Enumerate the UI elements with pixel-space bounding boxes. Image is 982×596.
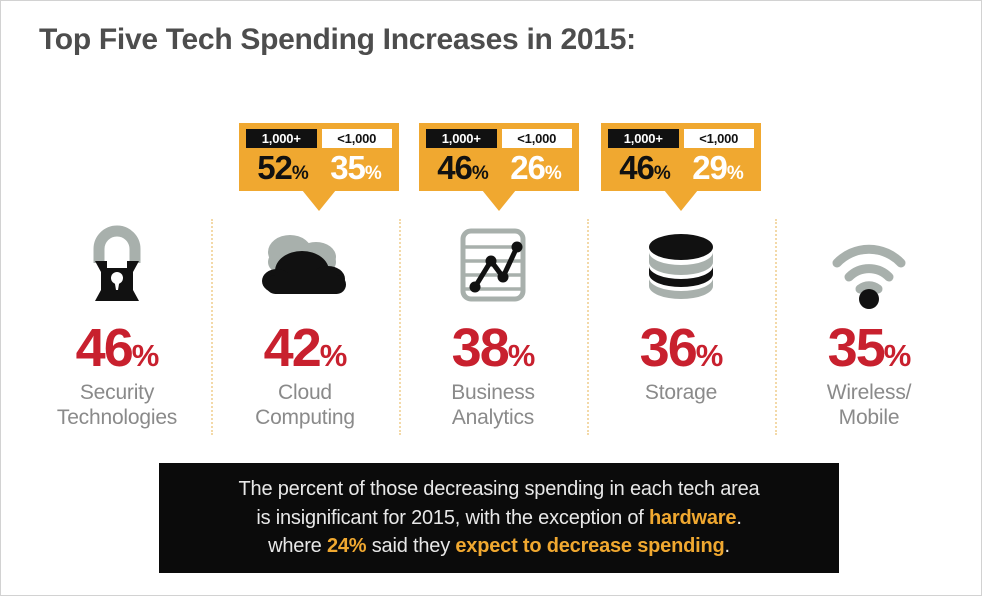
callout-value-large-percent: % (292, 163, 308, 184)
callout-business-analytics: 1,000+ <1,000 46% 26% (419, 123, 579, 191)
tag-under-1000: <1,000 (322, 129, 393, 148)
callout-value-small-percent: % (365, 163, 381, 184)
callout-value-small-number: 26 (510, 149, 545, 186)
callout-value-small-number: 29 (692, 149, 727, 186)
stat-number: 38 (452, 318, 508, 378)
callout-tags: 1,000+ <1,000 (601, 123, 761, 148)
stat-value: 35% (828, 321, 911, 375)
callout-value-large: 52% (246, 149, 319, 187)
callout-value-large-percent: % (654, 163, 670, 184)
callout-pointer-icon (482, 190, 516, 211)
stat-column-business-analytics: 38% Business Analytics (399, 219, 587, 435)
cloud-icon (250, 219, 360, 311)
footnote-line-3-text-b: said they (366, 535, 455, 557)
footnote-line-3-text-a: where (268, 535, 327, 557)
database-icon (635, 219, 727, 311)
stat-number: 46 (76, 318, 132, 378)
stat-label-line1: Storage (645, 381, 717, 406)
tag-1000-plus: 1,000+ (608, 129, 679, 148)
stat-label: Business Analytics (451, 381, 535, 431)
callout-value-small: 29% (681, 149, 754, 187)
callout-value-large: 46% (608, 149, 681, 187)
stat-percent: % (884, 338, 911, 373)
callout-values: 52% 35% (239, 148, 399, 187)
footnote-highlight-hardware: hardware (649, 507, 736, 529)
stat-columns: 46% Security Technologies (23, 219, 963, 435)
stat-value: 42% (264, 321, 347, 375)
stat-column-cloud-computing: 42% Cloud Computing (211, 219, 399, 435)
tag-1000-plus: 1,000+ (246, 129, 317, 148)
footnote-highlight-expect-decrease: expect to decrease spending (455, 535, 724, 557)
tag-under-1000: <1,000 (684, 129, 755, 148)
callout-value-large-number: 52 (257, 149, 292, 186)
stat-value: 46% (76, 321, 159, 375)
tag-1000-plus: 1,000+ (426, 129, 497, 148)
stat-label: Storage (645, 381, 717, 406)
callout-pointer-icon (302, 190, 336, 211)
stat-label-line1: Wireless/ (827, 381, 912, 406)
stat-label-line2: Analytics (451, 406, 535, 431)
stat-percent: % (320, 338, 347, 373)
callout-value-large-number: 46 (437, 149, 472, 186)
stat-percent: % (508, 338, 535, 373)
footnote-line-3-text-c: . (725, 535, 730, 557)
callout-value-small-number: 35 (330, 149, 365, 186)
callout-value-small-percent: % (727, 163, 743, 184)
stat-number: 35 (828, 318, 884, 378)
stat-column-security-technologies: 46% Security Technologies (23, 219, 211, 435)
callout-value-small: 26% (499, 149, 572, 187)
stat-label-line2: Computing (255, 406, 355, 431)
stat-value: 36% (640, 321, 723, 375)
footnote-line-2-text-a: is insignificant for 2015, with the exce… (256, 507, 649, 529)
stat-label-line1: Security (57, 381, 177, 406)
callout-cloud-computing: 1,000+ <1,000 52% 35% (239, 123, 399, 191)
stat-percent: % (696, 338, 723, 373)
footnote-line-2: is insignificant for 2015, with the exce… (256, 504, 741, 532)
lock-icon (69, 219, 165, 311)
footnote-highlight-24-percent: 24% (327, 535, 366, 557)
callout-value-large-percent: % (472, 163, 488, 184)
infographic-canvas: Top Five Tech Spending Increases in 2015… (0, 0, 982, 596)
stat-column-wireless-mobile: 35% Wireless/ Mobile (775, 219, 963, 435)
stat-label-line1: Business (451, 381, 535, 406)
footnote-line-1: The percent of those decreasing spending… (239, 475, 760, 503)
footnote-line-3: where 24% said they expect to decrease s… (268, 532, 730, 560)
stat-label: Security Technologies (57, 381, 177, 431)
stat-number: 36 (640, 318, 696, 378)
callout-row: 1,000+ <1,000 52% 35% 1,000+ <1,000 46% … (1, 123, 982, 219)
footnote-line-2-text-b: . (736, 507, 741, 529)
stat-column-storage: 36% Storage (587, 219, 775, 435)
page-title: Top Five Tech Spending Increases in 2015… (39, 23, 636, 57)
stat-label-line2: Technologies (57, 406, 177, 431)
line-chart-icon (447, 219, 539, 311)
callout-value-large: 46% (426, 149, 499, 187)
stat-value: 38% (452, 321, 535, 375)
callout-value-small-percent: % (545, 163, 561, 184)
callout-value-small: 35% (319, 149, 392, 187)
callout-storage: 1,000+ <1,000 46% 29% (601, 123, 761, 191)
stat-label-line2: Mobile (827, 406, 912, 431)
stat-percent: % (132, 338, 159, 373)
callout-value-large-number: 46 (619, 149, 654, 186)
callout-pointer-icon (664, 190, 698, 211)
footnote-banner: The percent of those decreasing spending… (159, 463, 839, 573)
stat-label: Cloud Computing (255, 381, 355, 431)
tag-under-1000: <1,000 (502, 129, 573, 148)
stat-label: Wireless/ Mobile (827, 381, 912, 431)
wifi-icon (821, 219, 917, 311)
stat-label-line1: Cloud (255, 381, 355, 406)
callout-tags: 1,000+ <1,000 (239, 123, 399, 148)
stat-number: 42 (264, 318, 320, 378)
callout-values: 46% 29% (601, 148, 761, 187)
callout-tags: 1,000+ <1,000 (419, 123, 579, 148)
callout-values: 46% 26% (419, 148, 579, 187)
